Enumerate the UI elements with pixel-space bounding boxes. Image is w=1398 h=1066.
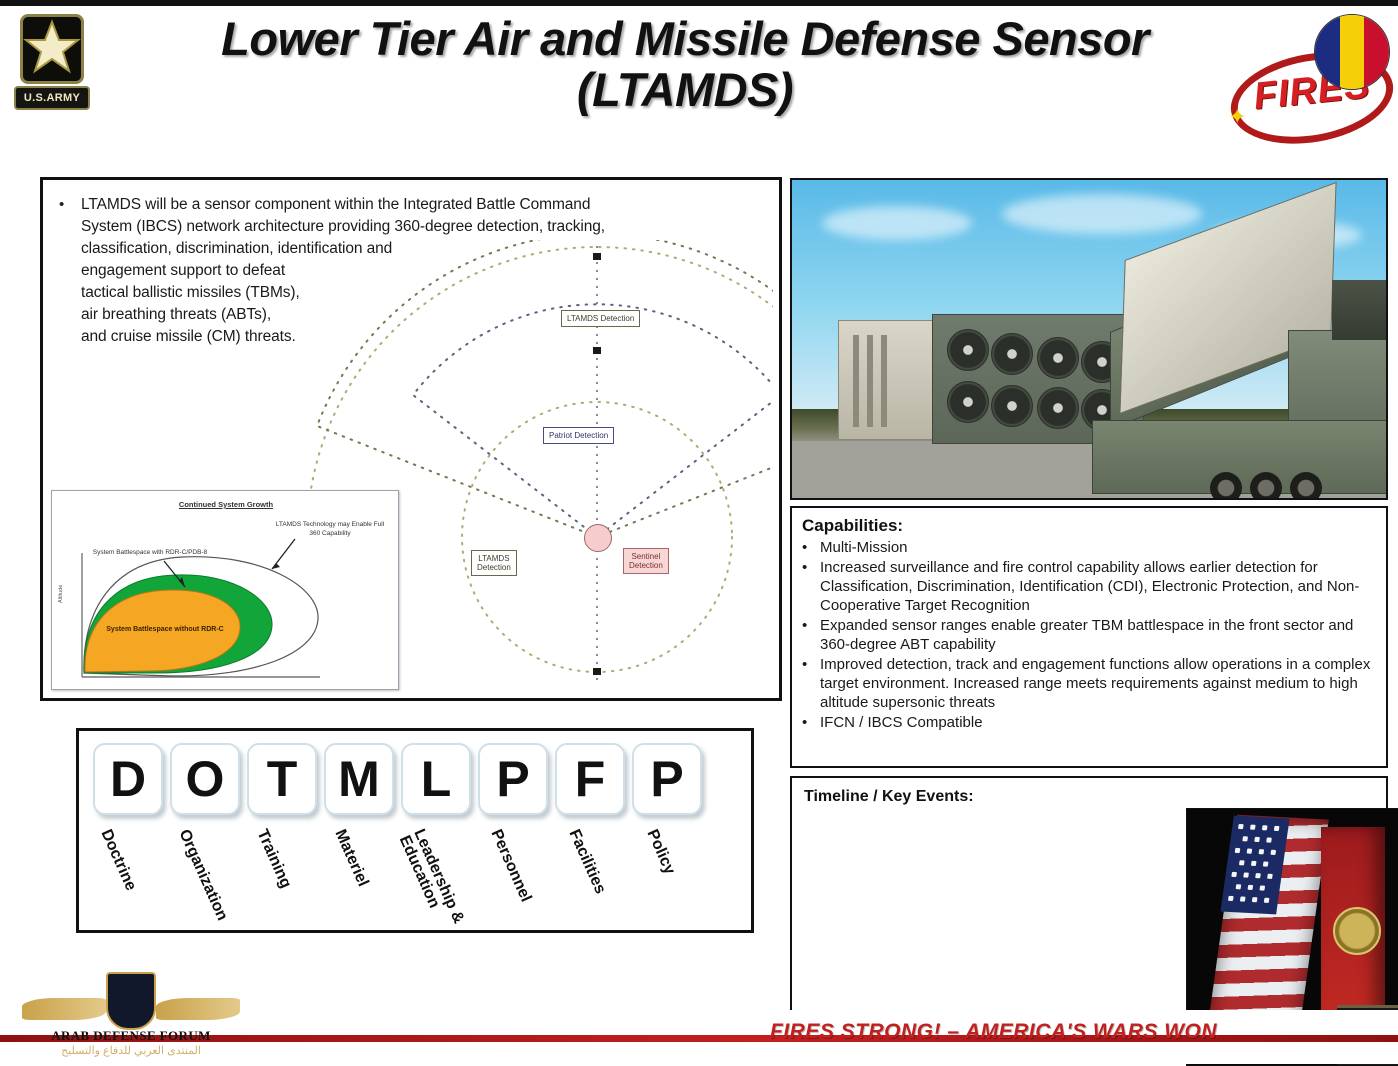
system-growth-inset-chart: Continued System Growth LTAMDS Technolog…: [51, 490, 399, 690]
dotmlpfp-label-personnel: Personnel: [487, 827, 535, 905]
page-title: Lower Tier Air and Missile Defense Senso…: [120, 14, 1250, 116]
capabilities-panel: Capabilities: • Multi-Mission • Increase…: [790, 506, 1388, 768]
unit-seal-icon: [1333, 907, 1381, 955]
capability-item: • Increased surveillance and fire contro…: [802, 558, 1376, 615]
power-shelter: [838, 320, 936, 440]
arab-defense-forum-watermark: DA ARAB DEFENSE FORUM المنتدى العربي للد…: [18, 970, 244, 1058]
inset-blob-label: System Battlespace without RDR-C: [90, 626, 240, 633]
dotmlpfp-key-policy[interactable]: P: [632, 743, 702, 815]
header-top-rule: [0, 0, 1398, 6]
capability-item: • Multi-Mission: [802, 538, 1376, 557]
capability-text: Increased surveillance and fire control …: [820, 558, 1376, 615]
dotmlpfp-key-row: D O T M L P F P: [93, 743, 702, 815]
dotmlpfp-key-training[interactable]: T: [247, 743, 317, 815]
capability-text: Multi-Mission: [820, 538, 1376, 557]
label-ltamds-detection-top: LTAMDS Detection: [561, 310, 640, 327]
dotmlpfp-key-doctrine[interactable]: D: [93, 743, 163, 815]
capability-item: • Improved detection, track and engageme…: [802, 655, 1376, 712]
bullet-marker-icon: •: [802, 655, 820, 712]
ltamds-radar-photo: [790, 178, 1388, 500]
dotmlpfp-label-facilities: Facilities: [565, 827, 609, 897]
title-line-1: Lower Tier Air and Missile Defense Senso…: [120, 14, 1250, 65]
overview-line: LTAMDS will be a sensor component within…: [81, 194, 759, 216]
dotmlpfp-key-leadership[interactable]: L: [401, 743, 471, 815]
dotmlpfp-key-facilities[interactable]: F: [555, 743, 625, 815]
watermark-title: ARAB DEFENSE FORUM: [18, 1028, 244, 1044]
us-army-logo: U.S.ARMY: [14, 14, 92, 114]
dotmlpfp-panel: D O T M L P F P Doctrine Organization Tr…: [76, 728, 754, 933]
dotmlpfp-label-policy: Policy: [643, 827, 679, 877]
dotmlpfp-label-materiel: Materiel: [331, 827, 372, 890]
dotmlpfp-key-materiel[interactable]: M: [324, 743, 394, 815]
wing-right-icon: [156, 998, 240, 1020]
bullet-marker-icon: •: [802, 616, 820, 654]
overview-panel: • LTAMDS will be a sensor component with…: [40, 177, 782, 701]
bullet-marker-icon: •: [802, 538, 820, 557]
timeline-title: Timeline / Key Events:: [804, 788, 1374, 806]
wing-left-icon: [22, 998, 106, 1020]
watermark-arabic-title: المنتدى العربي للدفاع والتسليح: [18, 1044, 244, 1057]
dotmlpfp-label-leadership-education: Leadership & Education: [396, 827, 466, 933]
branch-colors-badge: [1314, 14, 1390, 90]
footer-slogan: FIRES STRONG! – AMERICA'S WARS WON: [770, 1020, 1217, 1044]
capability-text: Improved detection, track and engagement…: [820, 655, 1376, 712]
wheel-icon: [1290, 472, 1322, 500]
sensor-origin-marker: [584, 524, 612, 552]
fires-logo: ✦ ✦ FIRES: [1222, 8, 1392, 138]
wheel-icon: [1250, 472, 1282, 500]
bullet-marker-icon: •: [59, 194, 81, 348]
capability-text: Expanded sensor ranges enable greater TB…: [820, 616, 1376, 654]
capabilities-title: Capabilities:: [802, 516, 1376, 536]
overview-line: System (IBCS) network architecture provi…: [81, 216, 759, 238]
dotmlpfp-key-organization[interactable]: O: [170, 743, 240, 815]
dotmlpfp-label-training: Training: [253, 827, 295, 891]
star-icon: [23, 17, 81, 79]
watermark-monogram: DA: [110, 1012, 150, 1029]
dotmlpfp-key-personnel[interactable]: P: [478, 743, 548, 815]
capability-text: IFCN / IBCS Compatible: [820, 713, 1376, 732]
label-ltamds-detection-bottom: LTAMDS Detection: [471, 550, 517, 576]
capability-item: • Expanded sensor ranges enable greater …: [802, 616, 1376, 654]
inset-chart-svg: [52, 491, 400, 691]
label-patriot-detection: Patriot Detection: [543, 427, 614, 444]
bullet-marker-icon: •: [802, 558, 820, 615]
army-logo-label: U.S.ARMY: [14, 86, 90, 110]
label-sentinel-detection: Sentinel Detection: [623, 548, 669, 574]
dotmlpfp-label-organization: Organization: [175, 827, 231, 924]
slide-header: U.S.ARMY Lower Tier Air and Missile Defe…: [0, 0, 1398, 172]
army-star-badge: [20, 14, 84, 84]
wheel-icon: [1210, 472, 1242, 500]
title-line-2: (LTAMDS): [120, 65, 1250, 116]
capability-item: • IFCN / IBCS Compatible: [802, 713, 1376, 732]
bullet-marker-icon: •: [802, 713, 820, 732]
mast-unit: [1332, 280, 1388, 340]
dotmlpfp-label-doctrine: Doctrine: [97, 827, 140, 894]
